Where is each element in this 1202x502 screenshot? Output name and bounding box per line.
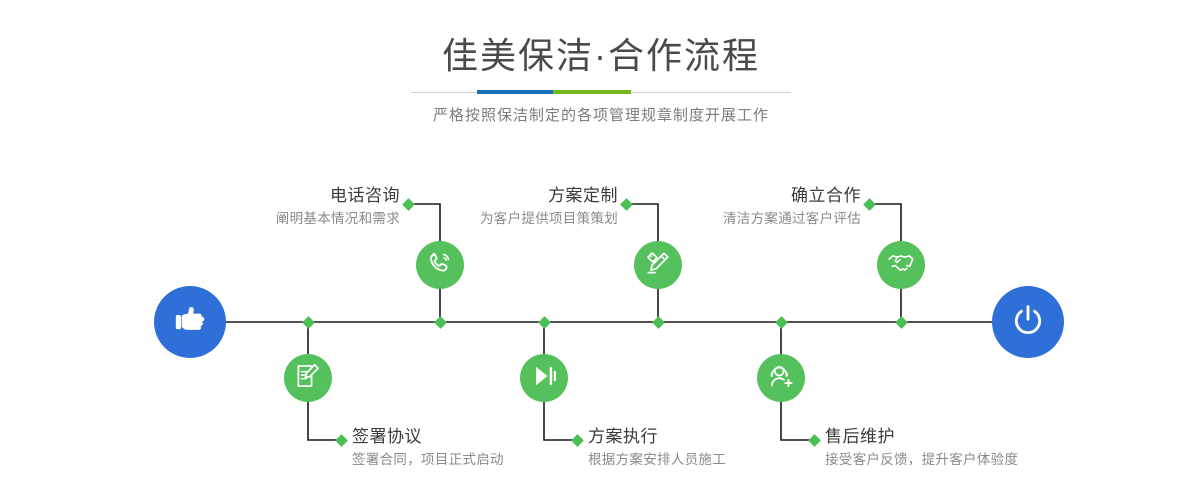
pointing-hand-icon [170,300,210,345]
step-node-5[interactable] [877,241,925,289]
step-desc-6: 接受客户反馈，提升客户体验度 [825,450,1165,470]
end-endpoint[interactable] [992,286,1064,358]
handshake-icon [887,249,915,282]
step-title-5: 确立合作 [553,185,861,207]
start-endpoint[interactable] [154,286,226,358]
phone-call-icon [426,249,454,282]
step-node-4[interactable] [520,354,568,402]
document-edit-icon [294,362,322,395]
pencil-ruler-icon [644,249,672,282]
step-node-3[interactable] [634,241,682,289]
play-execute-icon [530,362,558,395]
power-icon [1008,300,1048,345]
step-node-1[interactable] [416,241,464,289]
step-node-2[interactable] [284,354,332,402]
step-label-5: 确立合作 清洁方案通过客户评估 [553,185,861,229]
step-desc-5: 清洁方案通过客户评估 [553,209,861,229]
step-title-6: 售后维护 [825,426,1165,448]
step-label-6: 售后维护 接受客户反馈，提升客户体验度 [825,426,1165,470]
customer-support-add-icon [767,362,795,395]
step-node-6[interactable] [757,354,805,402]
process-flow-infographic: 佳美保洁·合作流程 严格按照保洁制定的各项管理规章制度开展工作 [0,0,1202,502]
